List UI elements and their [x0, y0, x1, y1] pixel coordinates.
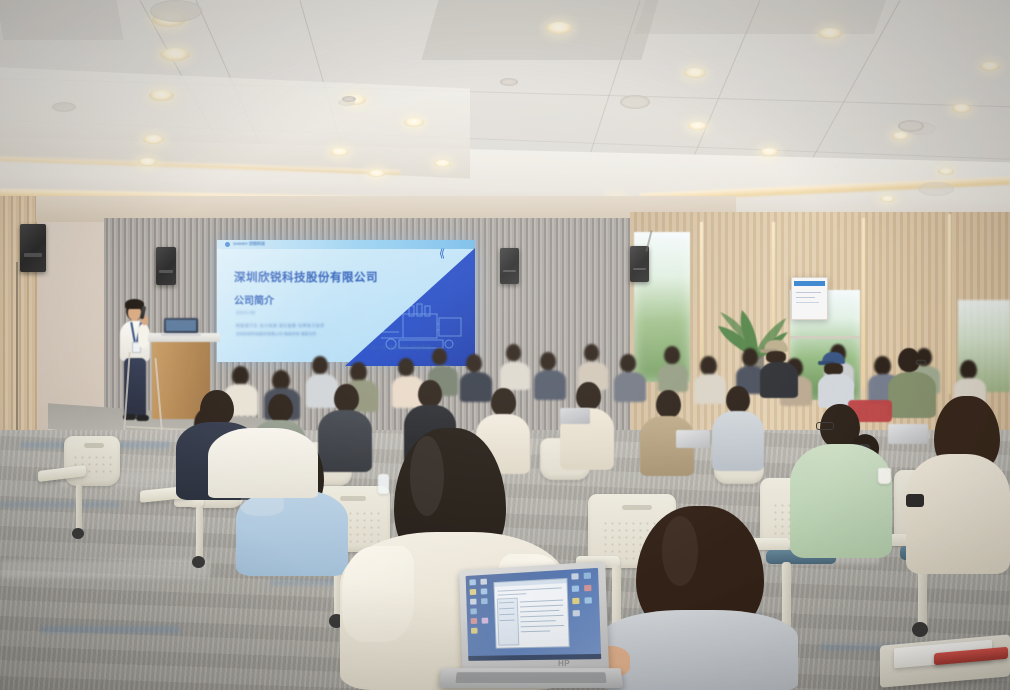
audience-head [742, 348, 758, 366]
downlight [404, 118, 424, 127]
downlight [688, 122, 707, 130]
chair[interactable] [56, 436, 126, 544]
audience-head [700, 356, 717, 375]
downlight [160, 48, 190, 61]
downlight [149, 90, 174, 101]
downlight [546, 22, 572, 34]
audience-head [432, 348, 447, 365]
downlight [952, 104, 971, 113]
downlight [684, 68, 706, 78]
downlight [138, 158, 157, 166]
ceiling-speaker [898, 120, 924, 132]
audience-head [312, 356, 328, 374]
audience-head [540, 352, 556, 370]
foreground-laptop[interactable]: HP [432, 566, 622, 690]
audience-head [506, 344, 521, 361]
wall-speaker-stage-left [156, 247, 176, 285]
water-bottle [378, 474, 389, 494]
audience-head [398, 358, 414, 376]
wall-notice-poster [791, 277, 828, 320]
downlight [330, 148, 349, 156]
downlight [434, 160, 451, 167]
sleeve-ruffle [342, 546, 414, 642]
downlight [143, 135, 164, 144]
hp-logo: HP [558, 659, 570, 668]
hair-highlight [410, 436, 444, 516]
audience-member [712, 386, 768, 474]
conference-room-photo: SHINRY 欣锐科技 ⟪ 深圳欣锐科技股份有 [0, 0, 1010, 690]
screen-glare [466, 568, 602, 661]
hair-highlight [662, 516, 698, 586]
downlight [980, 62, 1000, 71]
audience-head [584, 344, 599, 361]
audience-head [350, 362, 367, 381]
audience-head [620, 354, 636, 372]
wall-speaker-left [20, 224, 46, 272]
audience-head [664, 346, 680, 364]
eyeglasses [916, 360, 926, 365]
audience-laptop[interactable] [560, 408, 590, 424]
smoke-detector [342, 96, 356, 102]
downlight [880, 196, 895, 202]
eyeglasses [816, 422, 834, 430]
audience-head [466, 354, 482, 372]
downlight [368, 170, 385, 177]
downlight [938, 168, 954, 175]
audience-head [960, 360, 977, 379]
ceiling-speaker [500, 78, 518, 86]
paper-cup [878, 468, 891, 484]
smartwatch [906, 494, 924, 507]
wall-speaker-stage-right [500, 248, 519, 284]
downlight [760, 148, 778, 156]
downlight [892, 132, 909, 140]
audience-member-white-shirt [208, 428, 318, 498]
downlight [818, 28, 842, 39]
audience-laptop[interactable] [676, 430, 710, 448]
foreground-woman-right [600, 506, 800, 690]
ceiling-speaker [620, 95, 650, 109]
audience-member-cream-right [906, 396, 1010, 576]
